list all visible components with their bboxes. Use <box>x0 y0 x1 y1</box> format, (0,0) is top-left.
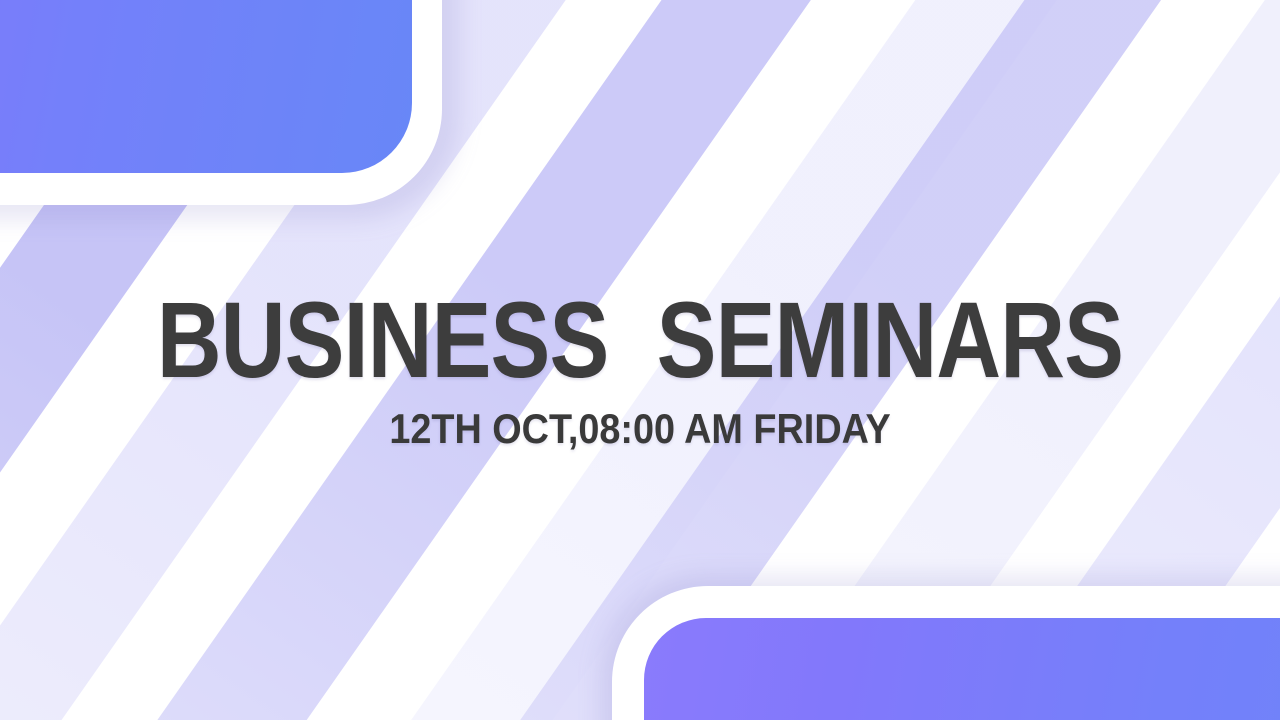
top-left-gradient-shape <box>0 0 412 173</box>
bottom-right-gradient-shape <box>644 618 1280 720</box>
event-poster: BUSINESS SEMINARS 12TH OCT,08:00 AM FRID… <box>0 0 1280 720</box>
event-datetime-subtitle: 12TH OCT,08:00 AM FRIDAY <box>64 408 1216 450</box>
poster-text-block: BUSINESS SEMINARS 12TH OCT,08:00 AM FRID… <box>0 286 1280 450</box>
page-title: BUSINESS SEMINARS <box>109 286 1171 394</box>
